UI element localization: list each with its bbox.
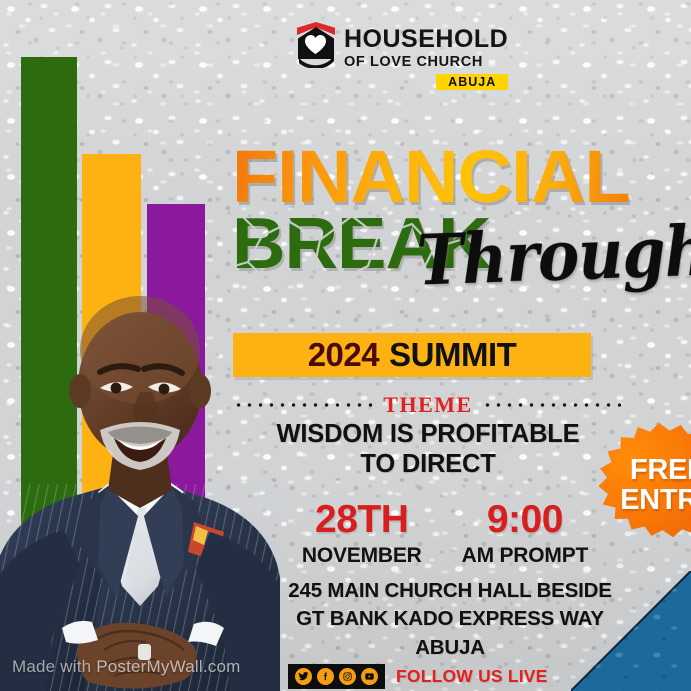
theme-statement: WISDOM IS PROFITABLE TO DIRECT [233,420,623,479]
time-column: 9:00 AM PROMPT [446,500,605,567]
watermark-brand: PosterMyWall.com [96,657,240,676]
logo-name-line1: HOUSEHOLD [344,27,508,52]
summit-label: SUMMIT [389,336,516,374]
footer-social-block: FOLLOW US LIVE [288,664,548,689]
postermywall-watermark: Made with PosterMyWall.com [12,657,240,677]
instagram-icon[interactable] [339,668,356,685]
event-month: NOVEMBER [302,544,422,567]
watermark-prefix: Made with [12,657,96,676]
logo-text-block: HOUSEHOLD OF LOVE CHURCH ABUJA [344,22,508,90]
event-time: 9:00 [462,500,589,539]
theme-dotted-rule-right [482,403,623,407]
theme-statement-line1: WISDOM IS PROFITABLE [233,420,623,450]
church-logo: HOUSEHOLD OF LOVE CHURCH ABUJA [296,22,508,90]
facebook-icon[interactable] [317,668,334,685]
speaker-portrait-illustration [0,246,288,691]
event-day: 28TH [302,500,422,539]
follow-us-live-label: FOLLOW US LIVE [396,666,548,687]
headline-through: Through [416,209,691,301]
logo-name-line2: OF LOVE CHURCH [344,55,508,70]
headline-block: FINANCIAL BREAK Through [232,142,652,288]
address-line1: 245 MAIN CHURCH HALL BESIDE [250,577,650,605]
theme-statement-line2: TO DIRECT [233,450,623,480]
event-time-period: AM PROMPT [462,544,589,567]
date-column: 28TH NOVEMBER [286,500,438,567]
house-heart-logo-icon [296,22,336,68]
twitter-icon[interactable] [295,668,312,685]
youtube-icon[interactable] [361,668,378,685]
summit-year: 2024 [308,336,379,374]
address-line3: ABUJA [250,634,650,662]
theme-label: THEME [383,392,472,418]
free-entry-line1: FREE [630,456,691,486]
date-time-block: 28TH NOVEMBER 9:00 AM PROMPT [300,500,590,567]
headline-financial: FINANCIAL [232,142,660,212]
venue-address: 245 MAIN CHURCH HALL BESIDE GT BANK KADO… [250,577,650,662]
logo-city-badge: ABUJA [436,74,508,91]
speaker-portrait [0,246,288,691]
event-flyer: HOUSEHOLD OF LOVE CHURCH ABUJA FINANCIAL… [0,0,691,691]
theme-row: THEME [233,392,623,418]
free-entry-line2: ENTRY [620,486,691,516]
social-bar [288,664,385,689]
address-line2: GT BANK KADO EXPRESS WAY [250,605,650,633]
